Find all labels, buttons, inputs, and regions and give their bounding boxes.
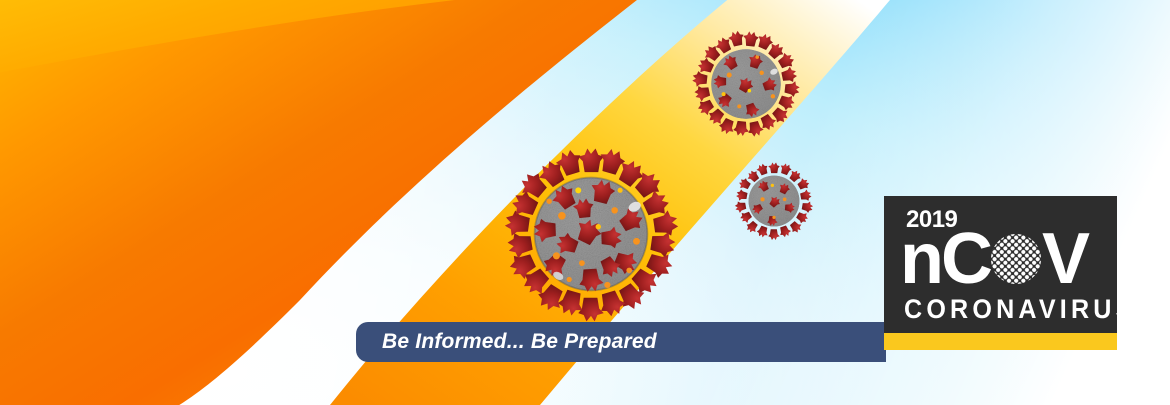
- coronavirus-particle-small: [733, 160, 815, 242]
- logo-subtitle: CORONAVIRUS: [904, 296, 1117, 323]
- halftone-virus-dot-icon: [991, 234, 1041, 284]
- tagline-text: Be Informed... Be Prepared: [382, 330, 657, 354]
- logo-letter-v: V: [1042, 230, 1087, 289]
- ncov-logo-box: 2019 n C V CORONAVIRUS: [884, 196, 1117, 333]
- tagline-bar: Be Informed... Be Prepared: [356, 322, 886, 362]
- logo-wordmark: n C V: [900, 227, 1087, 289]
- coronavirus-particle-large: [500, 143, 682, 325]
- ncov-banner: Be Informed... Be Prepared 2019 n C V CO…: [0, 0, 1170, 405]
- logo-letter-c: C: [941, 230, 990, 289]
- coronavirus-particle-medium: [690, 28, 802, 140]
- logo-letter-n: n: [900, 230, 941, 289]
- logo-accent-bar: [884, 333, 1117, 350]
